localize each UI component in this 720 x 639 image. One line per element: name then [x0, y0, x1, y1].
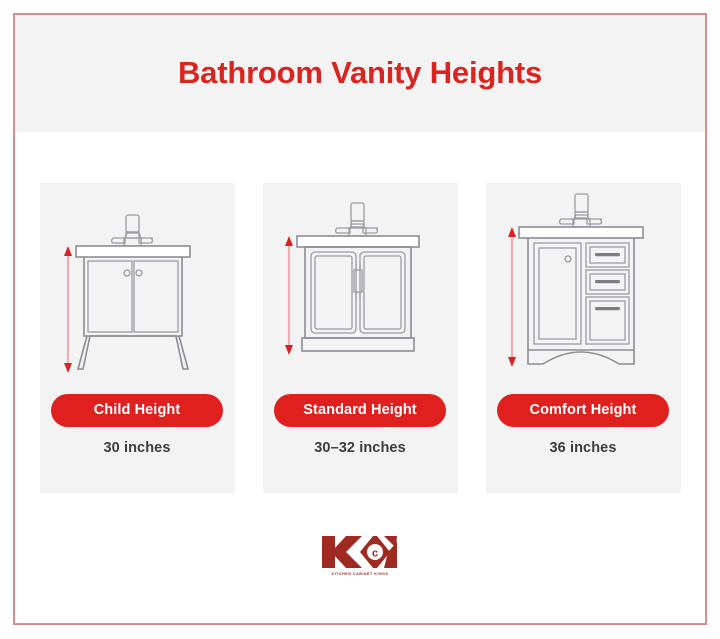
faucet-icon [112, 215, 154, 246]
door-right [360, 252, 405, 333]
countertop [297, 236, 419, 247]
arched-apron [528, 350, 634, 364]
panel-comfort-height: Comfort Height 36 inches [486, 183, 681, 493]
svg-text:c: c [372, 548, 378, 560]
panel-measurement-child: 30 inches [104, 440, 171, 456]
cabinet-body [84, 257, 182, 336]
knob-door-left [565, 256, 571, 262]
vanity-illustration-comfort [486, 183, 681, 388]
panel-standard-height: Standard Height 30–32 inches [263, 183, 458, 493]
toe-kick [302, 338, 414, 351]
faucet-icon [336, 203, 379, 236]
footer: c KITCHEN CABINET KINGS [15, 532, 705, 576]
door-right [134, 261, 178, 332]
countertop [76, 246, 190, 257]
vanity-panels-row: Child Height 30 inches [15, 132, 705, 493]
leg-left [78, 336, 90, 369]
door-left [534, 243, 581, 344]
faucet-icon [560, 194, 603, 227]
panel-label-standard: Standard Height [274, 394, 446, 427]
door-left [311, 252, 356, 333]
leg-right [176, 336, 188, 369]
vanity-illustration-standard [263, 183, 458, 388]
knob-left [124, 270, 130, 276]
drawer-bottom [586, 297, 629, 344]
pull-drawer-middle [595, 280, 620, 283]
dimension-arrow-standard [285, 236, 293, 355]
vanity-illustration-child [40, 183, 235, 388]
pull-drawer-bottom [595, 307, 620, 310]
dimension-arrow-child [64, 246, 72, 373]
infographic-frame: Bathroom Vanity Heights [13, 13, 707, 625]
kck-logo-icon: c [318, 532, 402, 572]
header-banner: Bathroom Vanity Heights [15, 15, 705, 132]
panel-measurement-comfort: 36 inches [550, 440, 617, 456]
panel-label-child: Child Height [51, 394, 223, 427]
panel-measurement-standard: 30–32 inches [314, 440, 406, 456]
brand-logo: c KITCHEN CABINET KINGS [318, 532, 402, 576]
panel-child-height: Child Height 30 inches [40, 183, 235, 493]
page-title: Bathroom Vanity Heights [178, 56, 542, 90]
door-left [88, 261, 132, 332]
hinge-center [354, 264, 362, 298]
knob-right [136, 270, 142, 276]
panel-label-comfort: Comfort Height [497, 394, 669, 427]
logo-tagline: KITCHEN CABINET KINGS [318, 572, 402, 576]
countertop [519, 227, 643, 238]
pull-drawer-top [595, 253, 620, 256]
dimension-arrow-comfort [508, 227, 516, 367]
